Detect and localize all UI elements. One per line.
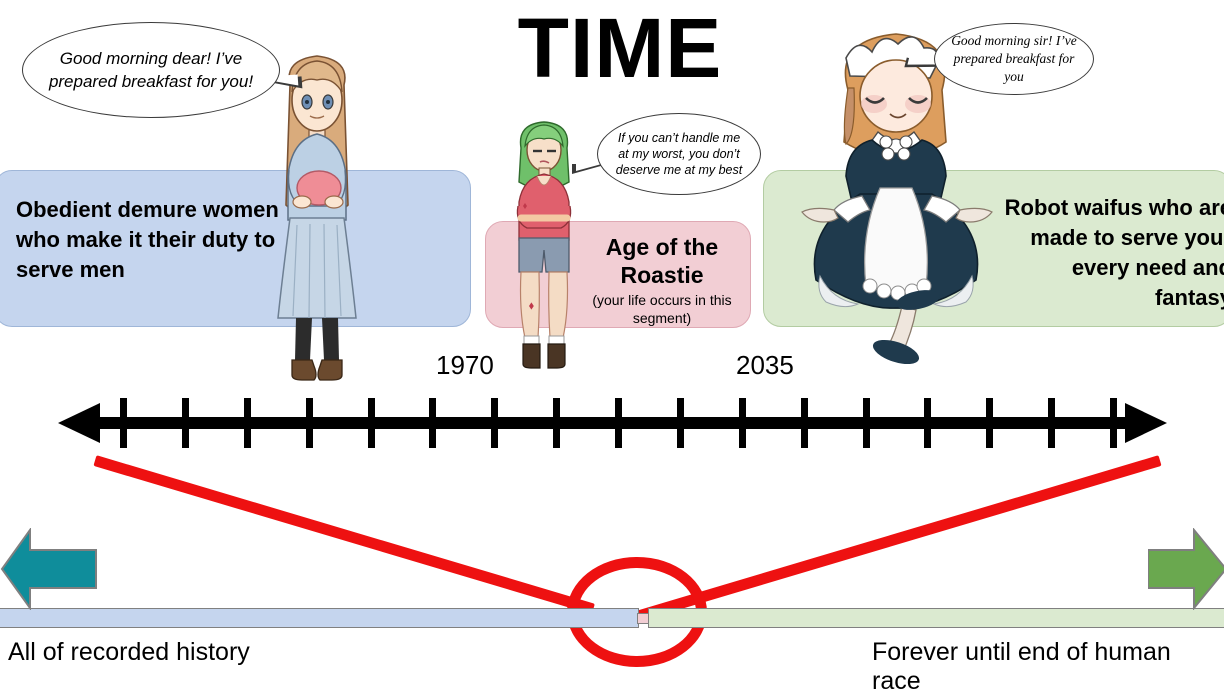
era-label-present-subtitle: (your life occurs in this segment) — [577, 291, 747, 327]
axis-tick — [1048, 398, 1055, 448]
axis-tick — [677, 398, 684, 448]
speech-bubble-past-text: Good morning dear! I’ve prepared breakfa… — [23, 47, 279, 93]
axis-arrow-left-icon — [58, 403, 100, 443]
speech-bubble-present: If you can’t handle me at my worst, you … — [597, 113, 761, 195]
character-roastie — [505, 110, 583, 372]
axis-tick — [368, 398, 375, 448]
meme-canvas: TIME Obedient demure women who make it t… — [0, 0, 1224, 685]
speech-bubble-robot-text: Good morning sir! I’ve prepared breakfas… — [935, 32, 1093, 86]
axis-tick — [615, 398, 622, 448]
axis-tick — [1110, 398, 1117, 448]
range-bar-future — [648, 608, 1224, 628]
timeline-axis — [0, 395, 1224, 453]
axis-tick — [801, 398, 808, 448]
right-arrow-icon — [1148, 528, 1224, 615]
axis-tick — [244, 398, 251, 448]
footer-left-label: All of recorded history — [8, 638, 250, 667]
year-label-end: 2035 — [736, 350, 794, 381]
page-title: TIME — [480, 6, 760, 90]
speech-bubble-robot: Good morning sir! I’ve prepared breakfas… — [934, 23, 1094, 95]
footer-right-label: Forever until end of human race — [872, 638, 1224, 696]
axis-tick — [306, 398, 313, 448]
axis-tick — [120, 398, 127, 448]
era-label-past: Obedient demure women who make it their … — [16, 195, 286, 285]
era-label-future: Robot waifus who are made to serve your … — [1000, 193, 1224, 313]
axis-tick — [553, 398, 560, 448]
axis-tick — [491, 398, 498, 448]
axis-arrow-right-icon — [1125, 403, 1167, 443]
axis-tick — [863, 398, 870, 448]
axis-tick — [986, 398, 993, 448]
year-label-start: 1970 — [436, 350, 494, 381]
highlight-line-left — [93, 455, 594, 614]
era-label-present-title: Age of the Roastie — [577, 233, 747, 289]
era-label-present: Age of the Roastie (your life occurs in … — [577, 233, 747, 327]
axis-tick — [739, 398, 746, 448]
speech-bubble-past: Good morning dear! I’ve prepared breakfa… — [22, 22, 280, 118]
speech-bubble-present-text: If you can’t handle me at my worst, you … — [598, 130, 760, 178]
left-arrow-icon — [0, 528, 100, 615]
axis-tick — [182, 398, 189, 448]
axis-tick — [924, 398, 931, 448]
axis-tick — [429, 398, 436, 448]
